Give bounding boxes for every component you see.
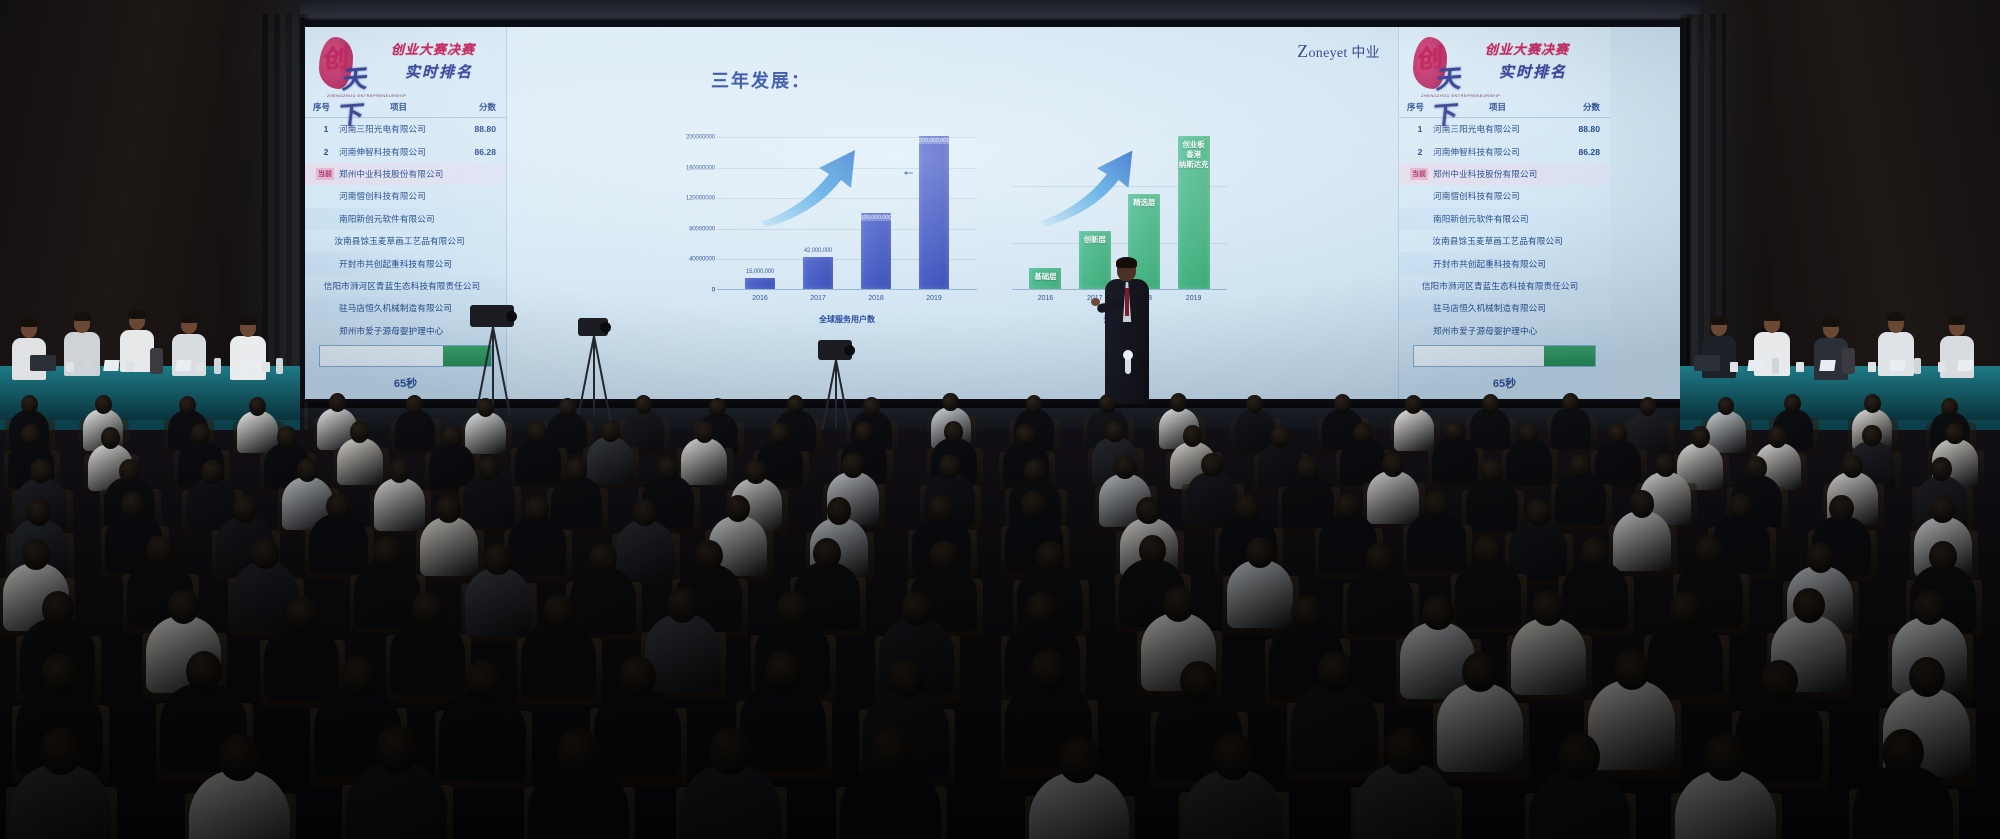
camera-lens: [844, 345, 855, 356]
table-item-bottle: [84, 358, 91, 374]
row-project-name: 郑州中业科技股份有限公司: [1433, 168, 1562, 180]
judge-torso: [230, 336, 266, 380]
y-tick-label: 200000000: [686, 134, 715, 141]
audience-member-body: [1394, 409, 1434, 450]
audience-member-body: [508, 516, 566, 576]
audience-member-head: [119, 459, 141, 483]
audience-member-head: [1882, 729, 1924, 776]
audience-member-head: [1930, 496, 1954, 523]
judge-hair: [180, 314, 198, 323]
audience-member-head: [326, 493, 350, 520]
audience-member-head: [1909, 657, 1945, 698]
microphone-head: [1123, 350, 1133, 360]
timer-label: 65秒: [319, 375, 492, 391]
bar-value-label: 42,000,000: [804, 248, 832, 254]
row-project-name: 信阳市浉河区青蓝生态科技有限责任公司: [1422, 280, 1579, 292]
camera-rig: [578, 318, 628, 422]
audience-member-head: [1829, 495, 1853, 522]
presenter-hair: [1116, 257, 1137, 268]
timer-progress-bar-right: [1413, 345, 1596, 367]
header-no: 序号: [313, 101, 339, 113]
row-project-name: 河南慴创科技有限公司: [1433, 190, 1562, 202]
audience-member-head: [465, 660, 501, 701]
row-rank: 当前: [313, 168, 339, 180]
audience-member-head: [1405, 395, 1422, 414]
audience-member-head: [1581, 537, 1609, 568]
row-project-name: 汝南县馀玉麦草画工艺品有限公司: [1432, 235, 1562, 247]
y-tick-label: 160000000: [686, 164, 715, 171]
audience-member-head: [777, 591, 809, 626]
audience-member-body: [1347, 567, 1413, 635]
mouse-cursor-icon: 🠔: [903, 164, 914, 185]
audience-member-body: [1588, 680, 1675, 769]
table-item-nameplate: [237, 360, 254, 371]
audience-member-head: [566, 457, 588, 481]
audience-member-head: [101, 427, 120, 449]
audience-member-head: [1024, 459, 1046, 483]
audience-member-head: [251, 538, 279, 569]
table-item-cup: [126, 362, 134, 372]
audience-member-head: [1761, 660, 1797, 701]
table-row[interactable]: 2河南伸智科技有限公司86.28: [1399, 140, 1610, 162]
audience-member-head: [855, 422, 874, 444]
audience-member-body: [1367, 471, 1419, 524]
audience-member-head: [1163, 586, 1195, 621]
table-item-cup: [1796, 362, 1804, 372]
audience-member-head: [376, 725, 418, 772]
bar-tier-line: 精选层: [1133, 198, 1155, 207]
audience-member-body: [1291, 683, 1378, 772]
table-row[interactable]: 2河南伸智科技有限公司86.28: [305, 140, 506, 162]
bar-tier-line: 纳斯达克: [1179, 160, 1209, 169]
audience-member-head: [528, 421, 547, 443]
audience-member-head: [1768, 426, 1787, 448]
audience-member-head: [709, 398, 726, 417]
audience-member-head: [1021, 491, 1045, 518]
audience-member-head: [477, 398, 494, 417]
audience-member-body: [1186, 472, 1238, 525]
audience-member-head: [412, 591, 444, 626]
audience-member-head: [146, 535, 174, 566]
audience-member-head: [442, 426, 461, 448]
audience-member-head: [559, 398, 576, 417]
audience-member-head: [1291, 595, 1323, 630]
x-tick-label-green: 2019: [1186, 295, 1202, 302]
audience-member-body: [570, 567, 636, 635]
audience-member-head: [201, 460, 223, 484]
row-rank: 2: [1407, 147, 1433, 157]
audience-member-body: [463, 474, 515, 527]
bar-value-label: 200,000,000: [917, 138, 950, 144]
audience-member-head: [1729, 493, 1753, 520]
audience-member-body: [1511, 618, 1586, 695]
audience-member-body: [1736, 691, 1823, 780]
row-project-name: 驻马店恒久机械制造有限公司: [339, 302, 458, 314]
judge-hair: [1822, 318, 1840, 327]
timer-label-right: 65秒: [1413, 375, 1596, 391]
audience-member-head: [1704, 733, 1746, 780]
x-tick-label: 2017: [810, 295, 826, 302]
contest-title-line1: 创业大赛决赛: [391, 39, 475, 58]
logo-subtext-right: ZHENGZHOU ENTREPRENEURSHIP: [1421, 93, 1500, 98]
y-tick-label: 80000000: [689, 225, 715, 232]
x-tick-label: 2018: [868, 295, 884, 302]
audience-member-head: [1519, 422, 1538, 444]
table-item-laptop: [1694, 355, 1720, 371]
table-item-nameplate: [1889, 360, 1906, 371]
ranking-panel-right: 创 天下 ZHENGZHOU ENTREPRENEURSHIP 创业大赛决赛 实…: [1398, 27, 1610, 399]
table-row[interactable]: 信阳市浉河区青蓝生态科技有限责任公司: [305, 275, 506, 297]
audience-member-head: [1941, 398, 1958, 417]
audience-member-head: [929, 495, 953, 522]
table-row[interactable]: 驻马店恒久机械制造有限公司: [1399, 297, 1610, 319]
audience-member-body: [624, 410, 664, 451]
audience-member-head: [1481, 459, 1503, 483]
audience-member-head: [1614, 649, 1650, 690]
judge-hair: [1887, 312, 1906, 321]
audience-member-head: [21, 395, 38, 414]
table-item-cup: [262, 362, 270, 372]
audience-member-body: [1613, 511, 1671, 571]
audience-member-head: [41, 653, 77, 694]
table-item-bottle: [276, 358, 283, 374]
audience-member-head: [695, 421, 714, 443]
brand-initial: Z: [1297, 41, 1308, 61]
table-item-nameplate: [1957, 360, 1974, 371]
audience-member-head: [1212, 732, 1254, 779]
y-tick-label: 40000000: [689, 256, 715, 263]
audience-member-head: [870, 727, 912, 774]
row-project-name: 河南慴创科技有限公司: [339, 190, 458, 202]
audience-member-body: [1466, 478, 1518, 531]
bar-blue: 200,000,000: [919, 136, 949, 289]
presenter: [1101, 258, 1153, 404]
audience-member-head: [277, 426, 296, 448]
audience-member-body: [395, 410, 435, 451]
tripod-leg: [492, 327, 494, 410]
audience-member-head: [1201, 453, 1223, 477]
contest-logo-mark-right: 创 天下 ZHENGZHOU ENTREPRENEURSHIP: [1413, 35, 1479, 91]
audience-member-head: [827, 497, 851, 524]
audience-member-body: [465, 412, 505, 453]
audience-member-head: [1945, 423, 1964, 445]
table-item-thermos: [150, 348, 163, 374]
audience-member-body: [1432, 437, 1478, 484]
table-item-bottle: [1772, 358, 1779, 374]
audience-member-head: [633, 499, 657, 526]
row-project-name: 汝南县馀玉麦草画工艺品有限公司: [334, 235, 464, 247]
table-item-thermos: [1842, 348, 1855, 374]
x-axis-title-users: 全球服务用户数: [717, 314, 977, 325]
audience-member-head: [484, 544, 512, 575]
row-project-name: 河南伸智科技有限公司: [1433, 146, 1562, 158]
table-row[interactable]: 1河南三阳光电有限公司88.80: [305, 118, 506, 140]
table-row[interactable]: 汝南县馀玉麦草画工艺品有限公司: [1399, 230, 1610, 252]
audience-member-head: [1353, 423, 1372, 445]
audience-member-head: [525, 495, 549, 522]
timer-progress-fill-right: [1544, 346, 1595, 366]
audience-member-head: [1366, 543, 1394, 574]
audience-member-body: [1555, 472, 1607, 525]
x-tick-label: 2019: [926, 295, 942, 302]
audience-member-head: [557, 728, 599, 775]
bar-tier-line: 创新层: [1084, 235, 1106, 244]
audience-member-head: [1180, 661, 1216, 702]
audience-member-body: [439, 691, 526, 780]
audience-member-head: [1016, 424, 1035, 446]
table-row[interactable]: 南阳新创元软件有限公司: [305, 208, 506, 230]
audience-member-body: [1282, 475, 1334, 528]
audience-member-body: [551, 476, 603, 529]
audience-member-body: [1437, 683, 1524, 772]
table-row[interactable]: 汝南县馀玉麦草画工艺品有限公司: [305, 230, 506, 252]
audience-member-head: [1842, 454, 1864, 478]
table-item-nameplate: [175, 360, 192, 371]
presenter-hand: [1091, 298, 1100, 306]
bar-blue: 15,000,000: [745, 278, 775, 289]
audience-member-head: [939, 454, 961, 478]
y-tick-label-zero: 0: [712, 287, 715, 294]
slide-title: 三年发展：: [711, 67, 811, 93]
audience-member-head: [340, 656, 376, 697]
audience-member-body: [1648, 618, 1723, 695]
status-badge: 当前: [316, 168, 334, 180]
audience-member-body: [1551, 407, 1591, 448]
table-item-cup: [196, 362, 204, 372]
table-item-cup: [1938, 362, 1946, 372]
judge-hair: [1763, 312, 1782, 321]
audience-member-body: [521, 621, 596, 698]
audience-member-body: [420, 517, 478, 577]
table-row[interactable]: 开封市共创起重科技有限公司: [305, 252, 506, 274]
brand-name: oneyet 中业: [1308, 46, 1380, 61]
audience-member-head: [1864, 394, 1881, 413]
audience-member-head: [1036, 541, 1064, 572]
header-score-right: 分数: [1562, 101, 1600, 113]
contest-title-line2-right: 实时排名: [1499, 61, 1567, 82]
timer-section-right: 65秒: [1399, 345, 1610, 391]
bar-blue: 42,000,000: [803, 257, 833, 289]
row-rank: 2: [313, 147, 339, 157]
screenshot-root: 创 天下 ZHENGZHOU ENTREPRENEURSHIP 创业大赛决赛 实…: [0, 0, 2000, 839]
audience-member-head: [233, 495, 257, 522]
judge-hair: [73, 312, 92, 321]
y-axis-tick-labels: 0400000008000000012000000016000000020000…: [669, 122, 715, 290]
row-project-name: 郑州市爱子源母婴护理中心: [1433, 325, 1562, 337]
audience-member-body: [1407, 511, 1465, 571]
audience-member-body: [465, 568, 531, 636]
audience-member-body: [354, 560, 420, 628]
camera-lens: [600, 322, 611, 333]
audience-member-head: [1026, 592, 1058, 627]
audience-member-head: [27, 498, 51, 525]
audience-member-head: [21, 424, 40, 446]
tripod-leg: [593, 336, 595, 415]
audience-member-head: [350, 421, 369, 443]
audience-member-head: [249, 397, 266, 416]
row-score: 86.28: [1562, 147, 1600, 157]
table-item-cup: [66, 362, 74, 372]
audience-member-body: [1509, 520, 1567, 580]
audience-member-head: [930, 540, 958, 571]
audience-member-head: [1334, 394, 1351, 413]
ranking-logo-right: 创 天下 ZHENGZHOU ENTREPRENEURSHIP 创业大赛决赛 实…: [1399, 27, 1610, 99]
contest-logo-mark: 创 天下 ZHENGZHOU ENTREPRENEURSHIP: [319, 35, 385, 91]
row-project-name: 信阳市浉河区青蓝生态科技有限责任公司: [324, 280, 481, 292]
audience-member-head: [1422, 595, 1454, 630]
table-row[interactable]: 郑州市爱子源母婴护理中心: [1399, 320, 1610, 342]
bar-tier-label: 精选层: [1128, 198, 1160, 208]
y-tick-label: 120000000: [686, 195, 715, 202]
judge-hair: [239, 316, 258, 325]
x-tick-label-green: 2016: [1038, 295, 1054, 302]
table-row[interactable]: 河南慴创科技有限公司: [305, 185, 506, 207]
row-project-name: 南阳新创元软件有限公司: [1433, 213, 1562, 225]
row-project-name: 南阳新创元软件有限公司: [339, 213, 458, 225]
table-row[interactable]: 河南慴创科技有限公司: [1399, 185, 1610, 207]
header-no-right: 序号: [1407, 101, 1433, 113]
ranking-table-header-right: 序号 项目 分数: [1399, 99, 1610, 118]
audience-member-body: [264, 623, 339, 700]
bars-container-blue: 15,000,00042,000,000100,000,000200,000,0…: [717, 121, 977, 289]
audience-member-head: [765, 650, 801, 691]
audience-member-body: [681, 438, 727, 485]
table-row[interactable]: 当前郑州中业科技股份有限公司: [305, 163, 506, 185]
ranking-logo-left: 创 天下 ZHENGZHOU ENTREPRENEURSHIP 创业大赛决赛 实…: [305, 27, 506, 99]
audience-member-head: [863, 397, 880, 416]
bar-blue: 100,000,000: [861, 213, 891, 289]
audience-member-head: [667, 587, 699, 622]
bar-tier-line: 基础层: [1034, 272, 1056, 281]
x-axis-line: [717, 289, 977, 290]
tripod-leg: [492, 327, 511, 416]
judge-hair: [128, 310, 146, 319]
table-item-nameplate: [1747, 360, 1764, 371]
audience-member-head: [1317, 651, 1353, 692]
users-bar-chart: 0400000008000000012000000016000000020000…: [717, 122, 977, 327]
audience-member-body: [616, 520, 674, 580]
bar-green: 创业板香港纳斯达克: [1178, 136, 1210, 289]
table-row[interactable]: 南阳新创元软件有限公司: [1399, 208, 1610, 230]
table-row[interactable]: 开封市共创起重科技有限公司: [1399, 252, 1610, 274]
bar-value-label: 100,000,000: [859, 215, 892, 221]
contest-title-line1-right: 创业大赛决赛: [1485, 39, 1569, 58]
table-item-laptop: [30, 355, 56, 371]
table-item-nameplate: [103, 360, 120, 371]
x-axis-tick-labels: 2016201720182019: [717, 295, 977, 307]
audience-member-head: [179, 396, 196, 415]
logo-subtext: ZHENGZHOU ENTREPRENEURSHIP: [327, 93, 406, 98]
audience-member-head: [1246, 537, 1274, 568]
audience-member-head: [1691, 426, 1710, 448]
audience-member-head: [1526, 499, 1550, 526]
company-brand-logo: Zoneyet 中业: [1297, 41, 1380, 62]
slide-content: Zoneyet 中业 三年发展： 04000000080000000120000…: [507, 27, 1398, 399]
audience-member-head: [1532, 590, 1564, 625]
audience-member-body: [1455, 559, 1521, 627]
row-project-name: 开封市共创起重科技有限公司: [339, 258, 458, 270]
audience-member-body: [337, 438, 383, 485]
status-badge: 当前: [1410, 168, 1428, 180]
table-row[interactable]: 信阳市浉河区青蓝生态科技有限责任公司: [1399, 275, 1610, 297]
table-item-bottle: [214, 358, 221, 374]
audience-member-head: [40, 727, 82, 774]
audience-member-body: [374, 478, 426, 531]
audience-member-head: [42, 591, 74, 626]
audience-member-head: [745, 460, 767, 484]
row-rank: 当前: [1407, 168, 1433, 180]
row-score: 88.80: [1562, 124, 1600, 134]
audience-member-body: [309, 514, 367, 574]
contest-title-line2: 实时排名: [405, 61, 473, 82]
tripod-leg: [835, 360, 837, 428]
audience-member-head: [1793, 588, 1825, 623]
row-rank: 1: [1407, 124, 1433, 134]
audience-member-head: [373, 536, 401, 567]
audience-member-body: [1470, 408, 1510, 449]
audience-member-head: [842, 453, 864, 477]
audience-member-head: [186, 651, 222, 692]
audience-member-head: [601, 420, 620, 442]
audience-member-head: [1026, 395, 1043, 414]
audience-member-body: [1506, 439, 1552, 486]
bar-green: 基础层: [1029, 268, 1061, 289]
audience-member-head: [1235, 494, 1259, 521]
audience-member-head: [1929, 541, 1957, 572]
tripod-leg: [593, 336, 611, 421]
audience-member-head: [1424, 490, 1448, 517]
audience-member-head: [478, 456, 500, 480]
audience-member-head: [1608, 423, 1627, 445]
audience-member-head: [813, 538, 841, 569]
audience-member-body: [1562, 561, 1628, 629]
x-tick-label: 2016: [752, 295, 768, 302]
row-score: 88.80: [458, 124, 496, 134]
audience-member-head: [709, 727, 751, 774]
audience-member-body: [390, 618, 465, 695]
bar-tier-label: 创业板香港纳斯达克: [1178, 140, 1210, 170]
audience-member-head: [1570, 454, 1592, 478]
ranking-table-body-right: 1河南三阳光电有限公司88.802河南伸智科技有限公司86.28当前郑州中业科技…: [1399, 118, 1610, 342]
audience-member-head: [95, 395, 112, 414]
row-score: 86.28: [458, 147, 496, 157]
ranking-table-header: 序号 项目 分数: [305, 99, 506, 118]
audience-member-body: [1355, 763, 1456, 839]
bar-tier-line: 香港: [1186, 150, 1201, 159]
audience-member-head: [329, 393, 346, 412]
audience-member-head: [1445, 421, 1464, 443]
row-project-name: 郑州中业科技股份有限公司: [339, 168, 458, 180]
audience-member-head: [1297, 456, 1319, 480]
audience-member-head: [1136, 497, 1160, 524]
row-project-name: 驻马店恒久机械制造有限公司: [1433, 302, 1562, 314]
table-item-cup: [1730, 362, 1738, 372]
audience-member-body: [515, 438, 561, 485]
audience-member-head: [1862, 425, 1881, 447]
table-item-cup: [1868, 362, 1876, 372]
audience-member-head: [1474, 535, 1502, 566]
audience-member-head: [770, 423, 789, 445]
audience-member-head: [1058, 736, 1100, 783]
table-row[interactable]: 当前郑州中业科技股份有限公司: [1399, 163, 1610, 185]
audience-member-head: [1562, 393, 1579, 412]
audience-member-body: [594, 688, 681, 777]
audience-member-head: [121, 492, 145, 519]
audience-member-head: [944, 421, 963, 443]
bar-tier-line: 创业板: [1183, 140, 1205, 149]
audience-member-head: [436, 495, 460, 522]
audience-member-head: [1031, 649, 1067, 690]
